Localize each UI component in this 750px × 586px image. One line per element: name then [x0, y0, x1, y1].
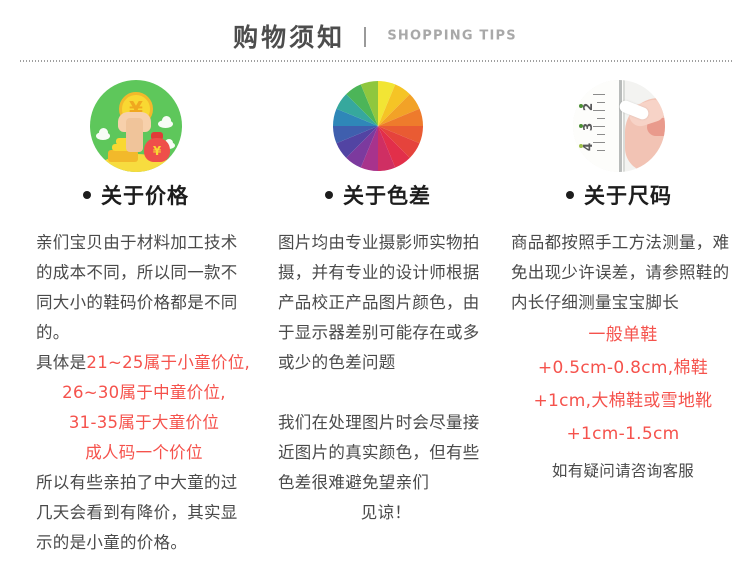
ruler-tick	[597, 150, 605, 151]
prefix-text: 具体是	[36, 353, 86, 372]
page-title-en: SHOPPING TIPS	[387, 29, 516, 44]
red-text: 21~25属于小童价位,	[86, 353, 250, 372]
ruler-tick	[597, 134, 605, 135]
ruler-tick	[597, 118, 605, 119]
tip-column-price: ¥ ¥ 关于价格 亲们宝贝由于材料加工技术的成本不同，所以同一款不同大小的鞋码价…	[20, 78, 252, 558]
tip-column-size: 2 3 4 关于尺码 商品都按照手工方法测量，难免出现少许误差，请参照鞋的内长仔…	[503, 78, 735, 486]
tip-heading-price-label: 关于价格	[101, 184, 189, 208]
shopping-tips-page: 购物须知 SHOPPING TIPS ¥ ¥	[0, 0, 750, 586]
cloud-icon	[158, 120, 173, 128]
paragraph: 亲们宝贝由于材料加工技术的成本不同，所以同一款不同大小的鞋码价格都是不同的。	[36, 228, 252, 348]
tip-body-color: 图片均由专业摄影师实物拍摄，并有专业的设计师根据产品校正产品图片颜色，由于显示器…	[262, 228, 494, 528]
ruler-number: 3	[581, 123, 595, 131]
paragraph: 商品都按照手工方法测量，难免出现少许误差，请参照鞋的内长仔细测量宝宝脚长	[511, 228, 735, 318]
bullet-icon	[566, 191, 574, 199]
paragraph-red: 一般单鞋	[511, 320, 735, 351]
ruler-tick	[593, 94, 605, 95]
paragraph: 我们在处理图片时会尽量接近图片的真实颜色，但有些色差很难避免望亲们	[278, 408, 494, 498]
icon-container-color	[262, 78, 494, 174]
money-hand-coin-icon: ¥ ¥	[90, 80, 182, 172]
paragraph-mixed: 具体是21~25属于小童价位,	[36, 348, 252, 378]
color-wheel-icon	[332, 80, 424, 172]
tip-heading-size: 关于尺码	[503, 180, 735, 210]
paragraph-red: +1cm-1.5cm	[511, 419, 735, 450]
tip-body-size: 商品都按照手工方法测量，难免出现少许误差，请参照鞋的内长仔细测量宝宝脚长 一般单…	[503, 228, 735, 486]
paragraph: 图片均由专业摄影师实物拍摄，并有专业的设计师根据产品校正产品图片颜色，由于显示器…	[278, 228, 494, 378]
icon-container-size: 2 3 4	[503, 78, 735, 174]
cloud-icon	[96, 132, 110, 140]
tip-heading-price: 关于价格	[20, 180, 252, 210]
dotted-divider	[20, 60, 732, 62]
ruler-tick	[597, 102, 605, 103]
icon-container-price: ¥ ¥	[20, 78, 252, 174]
paragraph-red: +0.5cm-0.8cm,棉鞋	[511, 353, 735, 384]
header-separator	[364, 27, 366, 47]
bullet-icon	[325, 191, 333, 199]
paragraph: 如有疑问请咨询客服	[511, 456, 735, 486]
ruler-number: 4	[581, 143, 595, 151]
paragraph-red: 成人码一个价位	[36, 438, 252, 468]
tip-heading-color: 关于色差	[262, 180, 494, 210]
paragraph-red: +1cm,大棉鞋或雪地靴	[511, 386, 735, 417]
bullet-icon	[83, 191, 91, 199]
money-bag-icon: ¥	[144, 138, 170, 162]
tip-body-price: 亲们宝贝由于材料加工技术的成本不同，所以同一款不同大小的鞋码价格都是不同的。 具…	[20, 228, 252, 558]
paragraph: 所以有些亲拍了中大童的过几天会看到有降价，其实显示的是小童的价格。	[36, 468, 252, 558]
ruler-edge	[619, 80, 622, 172]
paragraph-red: 31-35属于大童价位	[36, 408, 252, 438]
paragraph-red: 26~30属于中童价位,	[36, 378, 252, 408]
tip-heading-color-label: 关于色差	[343, 184, 431, 208]
page-header: 购物须知 SHOPPING TIPS	[0, 18, 750, 54]
page-title-cn: 购物须知	[233, 23, 345, 52]
ruler-measure-icon: 2 3 4	[573, 80, 665, 172]
tips-columns: ¥ ¥ 关于价格 亲们宝贝由于材料加工技术的成本不同，所以同一款不同大小的鞋码价…	[0, 78, 750, 578]
tip-column-color: 关于色差 图片均由专业摄影师实物拍摄，并有专业的设计师根据产品校正产品图片颜色，…	[262, 78, 494, 528]
ruler-number: 2	[581, 103, 595, 111]
tip-heading-size-label: 关于尺码	[584, 184, 672, 208]
hand-wrist	[126, 118, 143, 152]
paragraph: 见谅！	[278, 498, 494, 528]
